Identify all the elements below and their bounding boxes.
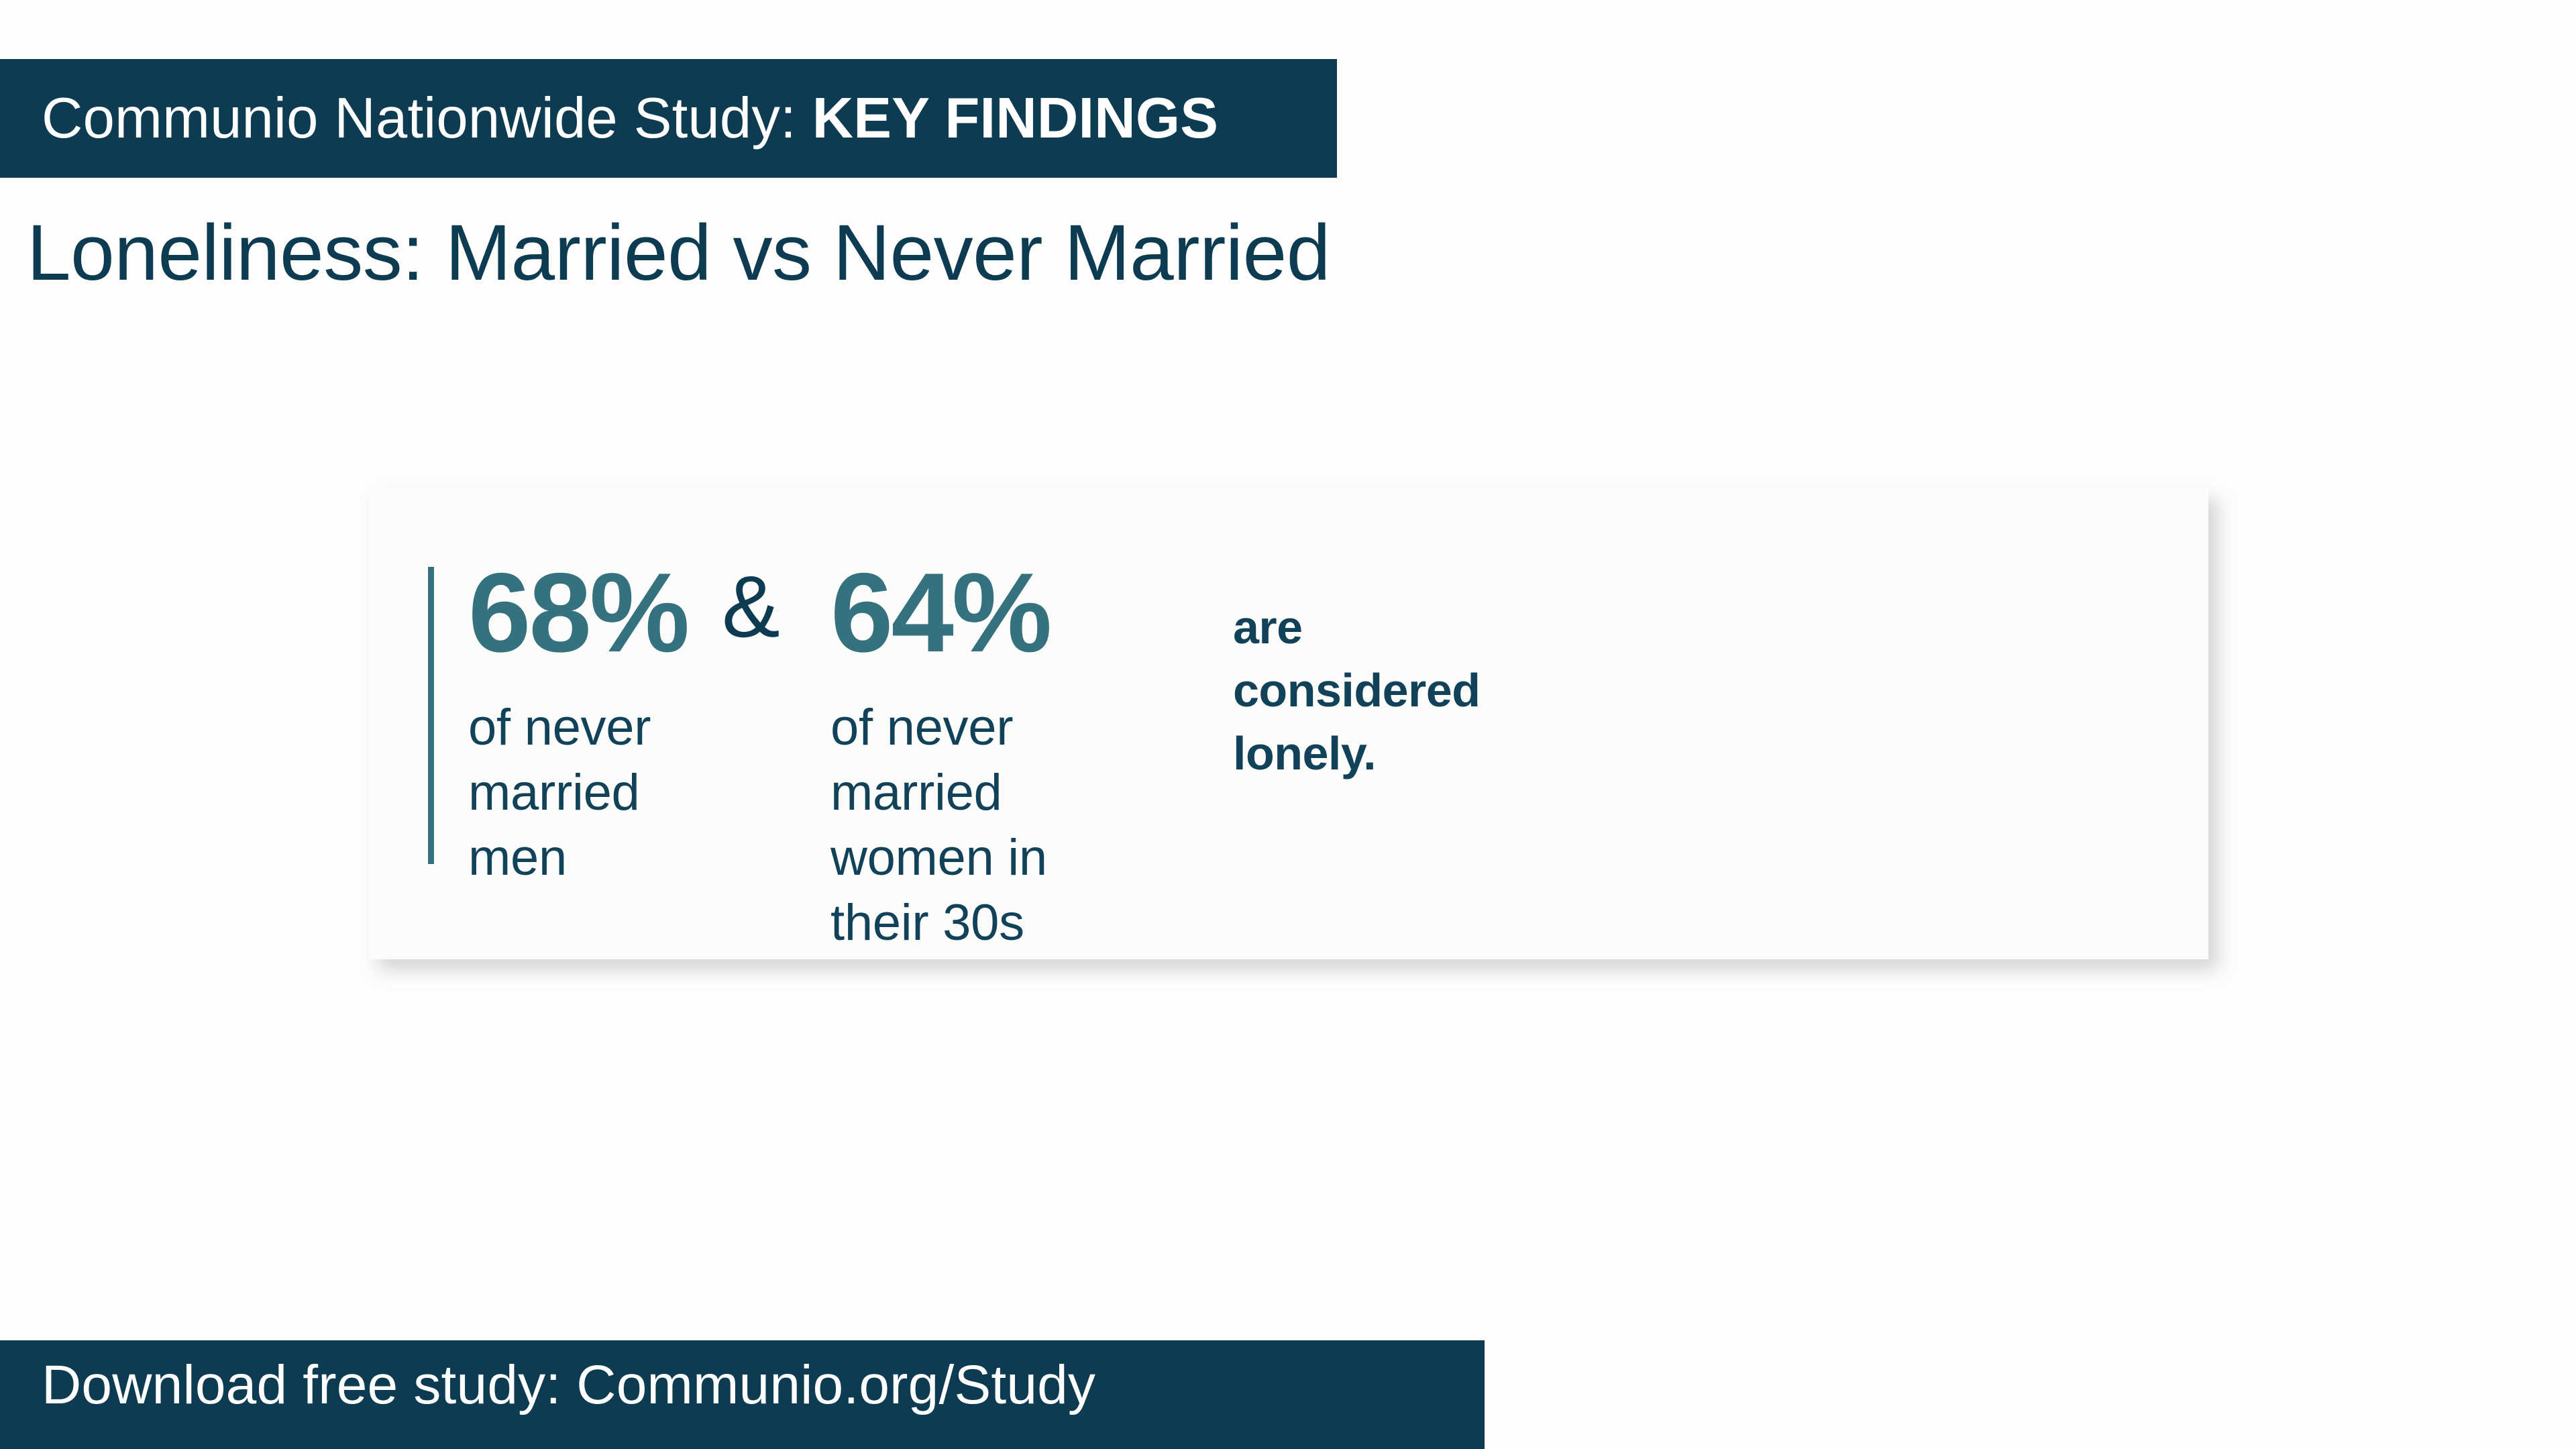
stat-value-women: 64%	[830, 557, 1119, 668]
key-findings-header-bar: Communio Nationwide Study: KEY FINDINGS	[0, 59, 1337, 178]
stat-conclusion-text: are considered lonely.	[1233, 596, 1454, 785]
page-title: Loneliness: Married vs Never Married	[27, 213, 1330, 292]
statistics-card: 68% of never married men & 64% of never …	[369, 488, 2208, 959]
download-study-link[interactable]: Download free study: Communio.org/Study	[42, 1355, 1095, 1415]
stat-conjunction: &	[722, 563, 816, 650]
stat-caption-men: of never married men	[468, 695, 703, 891]
study-label: Communio Nationwide Study:	[42, 90, 812, 147]
stat-block-never-married-men: 68% of never married men	[468, 557, 703, 890]
ampersand-symbol: &	[722, 563, 816, 650]
stat-conclusion-block: are considered lonely.	[1233, 596, 1454, 785]
stat-row: 68% of never married men & 64% of never …	[456, 488, 2208, 959]
download-footer-bar[interactable]: Download free study: Communio.org/Study	[0, 1340, 1485, 1449]
key-findings-label: KEY FINDINGS	[812, 90, 1218, 147]
teal-accent-bar	[428, 567, 434, 864]
stat-value-men: 68%	[468, 557, 703, 668]
stat-block-never-married-women: 64% of never married women in their 30s	[830, 557, 1119, 956]
stat-caption-women: of never married women in their 30s	[830, 695, 1119, 956]
